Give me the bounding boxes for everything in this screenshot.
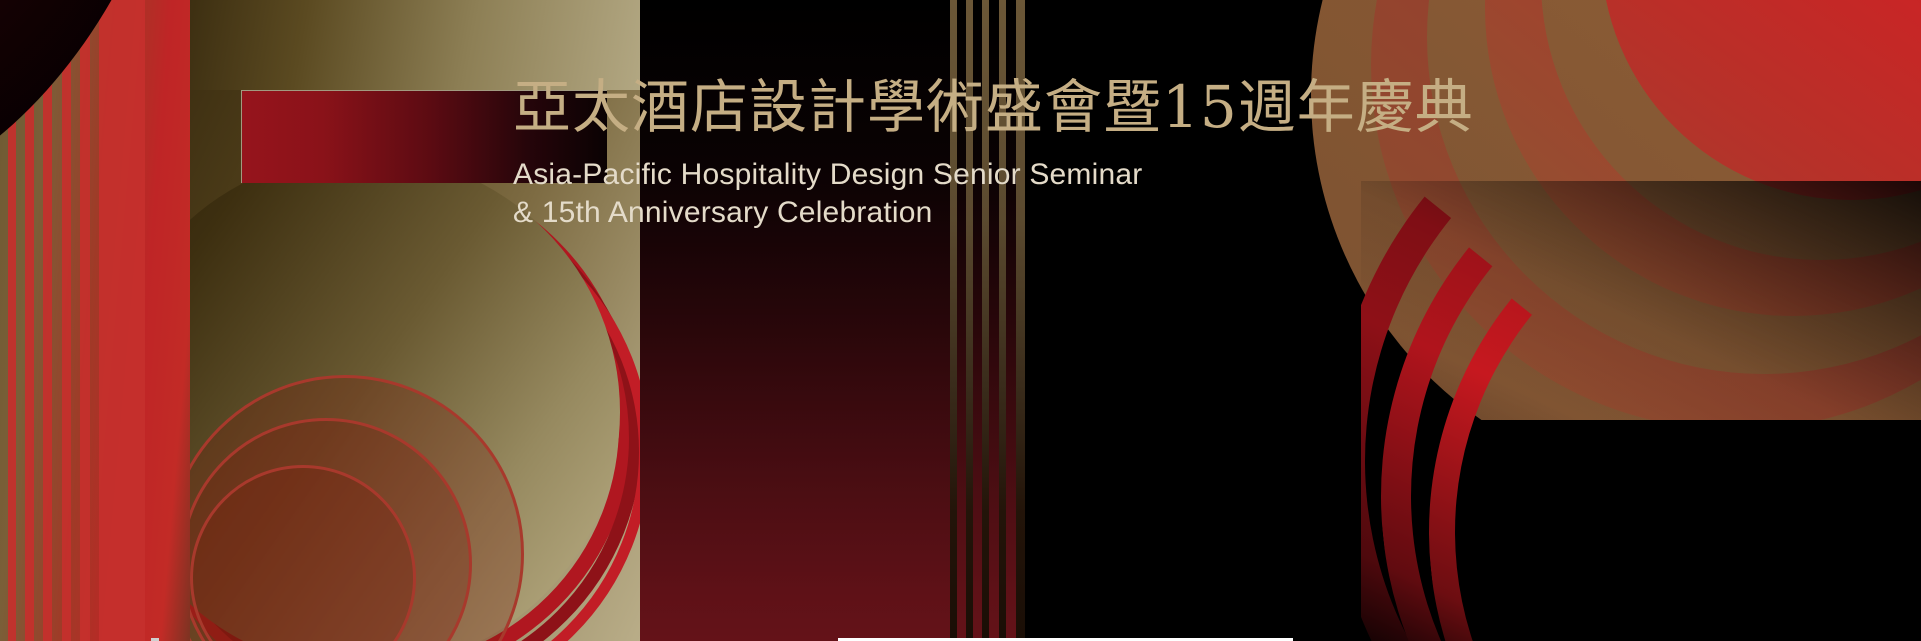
five-crescent-inner bbox=[134, 194, 640, 641]
one-numeral-column bbox=[0, 0, 190, 641]
top-right-arc bbox=[1541, 0, 1921, 260]
one-stripe bbox=[62, 0, 71, 641]
one-stripe bbox=[80, 0, 90, 641]
one-stripe-group bbox=[8, 0, 138, 641]
bottom-right-sweep bbox=[1361, 181, 1921, 641]
bottom-right-sweep-group bbox=[1361, 181, 1921, 641]
five-crescent-outer bbox=[118, 166, 634, 641]
top-right-arc bbox=[1485, 0, 1921, 316]
bottom-right-fade-overlay bbox=[1361, 181, 1921, 641]
subtitle-line-1: Asia-Pacific Hospitality Design Senior S… bbox=[513, 156, 1513, 194]
one-stripe bbox=[43, 0, 52, 641]
one-stripe bbox=[25, 0, 34, 641]
bottom-right-sweep bbox=[1392, 181, 1921, 641]
concentric-ring-outer bbox=[166, 375, 524, 641]
one-stripe bbox=[8, 0, 16, 641]
subtitle-english: Asia-Pacific Hospitality Design Senior S… bbox=[513, 156, 1513, 232]
banner-text-block: 亞太酒店設計學術盛會暨15週年慶典 Asia-Pacific Hospitali… bbox=[513, 74, 1513, 232]
top-right-arc bbox=[1601, 0, 1921, 200]
one-top-black-arc bbox=[0, 0, 200, 220]
event-banner: 亞太酒店設計學術盛會暨15週年慶典 Asia-Pacific Hospitali… bbox=[0, 0, 1921, 641]
one-stripe bbox=[99, 0, 145, 641]
five-crescent-middle bbox=[126, 180, 640, 641]
page-title: 亞太酒店設計學術盛會暨15週年慶典 bbox=[513, 74, 1513, 140]
concentric-ring-inner bbox=[190, 465, 416, 641]
bottom-right-sweep bbox=[1361, 181, 1921, 641]
subtitle-line-2: & 15th Anniversary Celebration bbox=[513, 194, 1513, 232]
concentric-ring-middle bbox=[180, 418, 472, 641]
